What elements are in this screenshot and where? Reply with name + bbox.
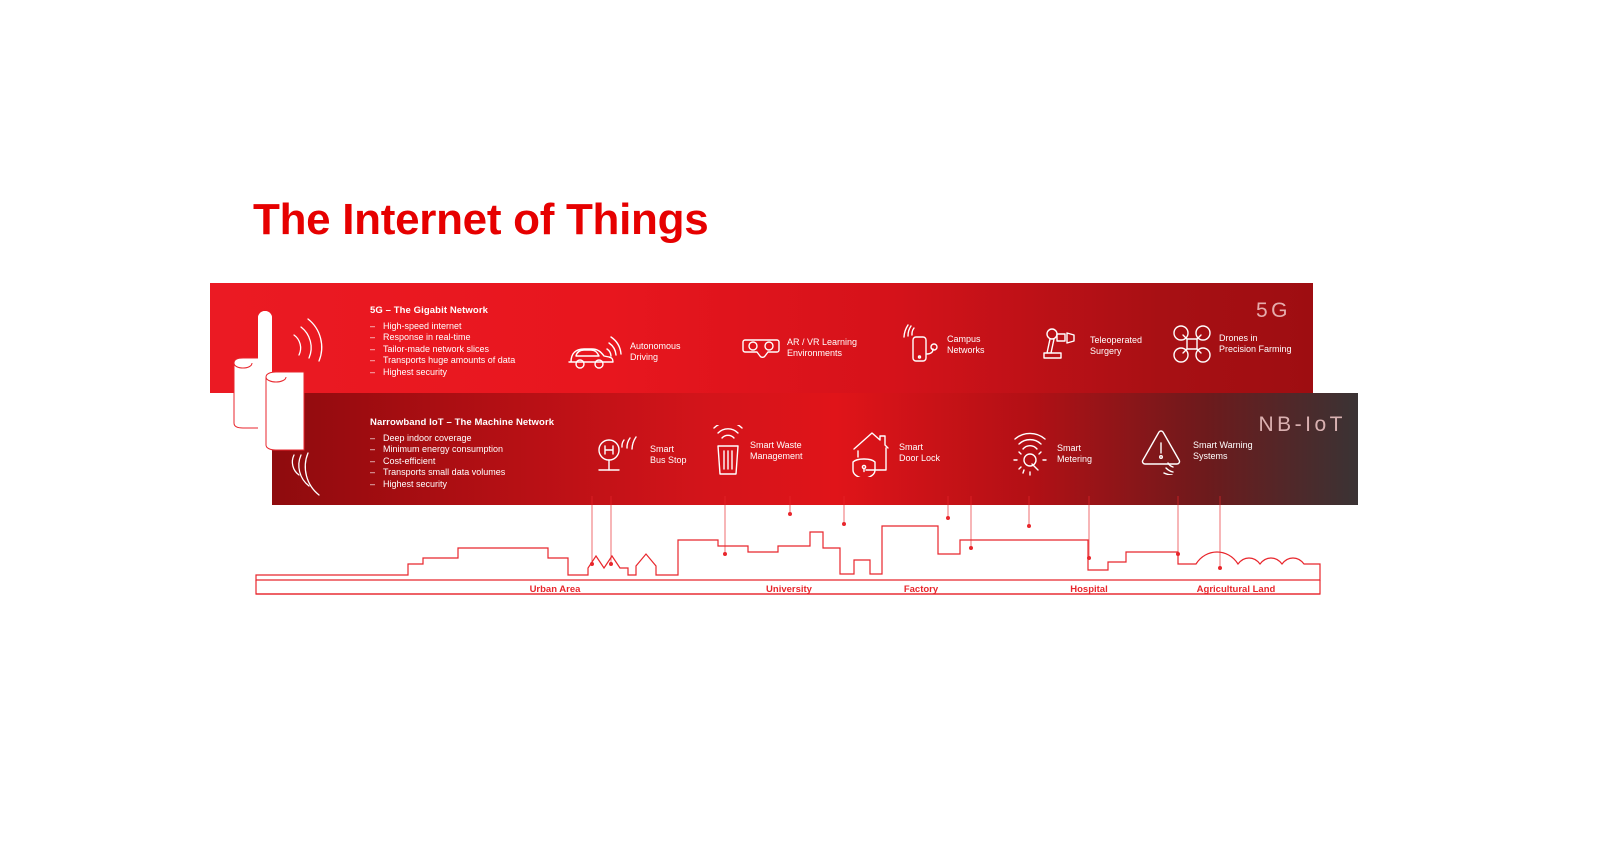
usecase-label: Drones in Precision Farming	[1219, 333, 1292, 355]
car-wifi-icon	[565, 331, 623, 373]
house-lock-icon	[850, 429, 892, 477]
band-5g-heading: 5G – The Gigabit Network	[370, 305, 515, 316]
usecase-label: Smart Bus Stop	[650, 444, 687, 466]
band-nbiot-bullets: Deep indoor coverage Minimum energy cons…	[370, 433, 554, 491]
vr-goggles-icon	[742, 333, 780, 363]
city-label-factory: Factory	[904, 584, 938, 595]
usecase-smart-door-lock[interactable]: Smart Door Lock	[850, 429, 940, 477]
bullet: Deep indoor coverage	[370, 433, 554, 445]
bullet: High-speed internet	[370, 321, 515, 333]
city-label-urban-area: Urban Area	[530, 584, 581, 595]
band-5g: 5G 5G – The Gigabit Network High-speed i…	[210, 283, 1313, 393]
antenna-plug-icon	[900, 324, 940, 366]
band-5g-bullets: High-speed internet Response in real-tim…	[370, 321, 515, 379]
bullet: Highest security	[370, 367, 515, 379]
bullet: Transports huge amounts of data	[370, 355, 515, 367]
bullet: Tailor-made network slices	[370, 344, 515, 356]
meter-gauge-icon	[1010, 432, 1050, 476]
usecase-label: Teleoperated Surgery	[1090, 335, 1142, 357]
usecase-label: Smart Waste Management	[750, 440, 803, 462]
waste-bin-wifi-icon	[713, 425, 743, 477]
city-label-university: University	[766, 584, 812, 595]
robot-arm-icon	[1041, 327, 1083, 365]
band-nbiot: NB-IoT Narrowband IoT – The Machine Netw…	[270, 393, 1358, 505]
badge-5g: 5G	[1256, 299, 1291, 323]
city-label-agricultural-land: Agricultural Land	[1197, 584, 1276, 595]
usecase-label: Smart Metering	[1057, 443, 1092, 465]
bus-stop-sign-icon	[595, 434, 643, 476]
drone-icon	[1172, 324, 1212, 364]
usecase-smart-warning-systems[interactable]: Smart Warning Systems	[1140, 427, 1253, 475]
city-label-hospital: Hospital	[1070, 584, 1107, 595]
bullet: Minimum energy consumption	[370, 444, 554, 456]
usecase-label: Smart Door Lock	[899, 442, 940, 464]
usecase-label: Autonomous Driving	[630, 341, 681, 363]
bullet: Response in real-time	[370, 332, 515, 344]
band-nbiot-text: Narrowband IoT – The Machine Network Dee…	[370, 417, 554, 490]
page-title: The Internet of Things	[253, 198, 708, 242]
usecase-campus-networks[interactable]: Campus Networks	[900, 324, 985, 366]
usecase-teleoperated-surgery[interactable]: Teleoperated Surgery	[1041, 327, 1142, 365]
band-nbiot-heading: Narrowband IoT – The Machine Network	[370, 417, 554, 428]
warning-triangle-icon	[1140, 427, 1186, 475]
usecase-smart-metering[interactable]: Smart Metering	[1010, 432, 1092, 476]
usecase-smart-bus-stop[interactable]: Smart Bus Stop	[595, 434, 687, 476]
bullet: Highest security	[370, 479, 554, 491]
usecase-ar-vr-learning[interactable]: AR / VR Learning Environments	[742, 333, 857, 363]
usecase-drones-precision-farming[interactable]: Drones in Precision Farming	[1172, 324, 1292, 364]
usecase-label: Smart Warning Systems	[1193, 440, 1253, 462]
usecase-label: AR / VR Learning Environments	[787, 337, 857, 359]
usecase-autonomous-driving[interactable]: Autonomous Driving	[565, 331, 681, 373]
bullet: Transports small data volumes	[370, 467, 554, 479]
bullet: Cost-efficient	[370, 456, 554, 468]
usecase-smart-waste-management[interactable]: Smart Waste Management	[713, 425, 803, 477]
band-5g-text: 5G – The Gigabit Network High-speed inte…	[370, 305, 515, 378]
infographic-canvas: The Internet of Things 5G 5G – The Gigab…	[0, 0, 1600, 862]
badge-nbiot: NB-IoT	[1258, 413, 1346, 437]
usecase-label: Campus Networks	[947, 334, 985, 356]
